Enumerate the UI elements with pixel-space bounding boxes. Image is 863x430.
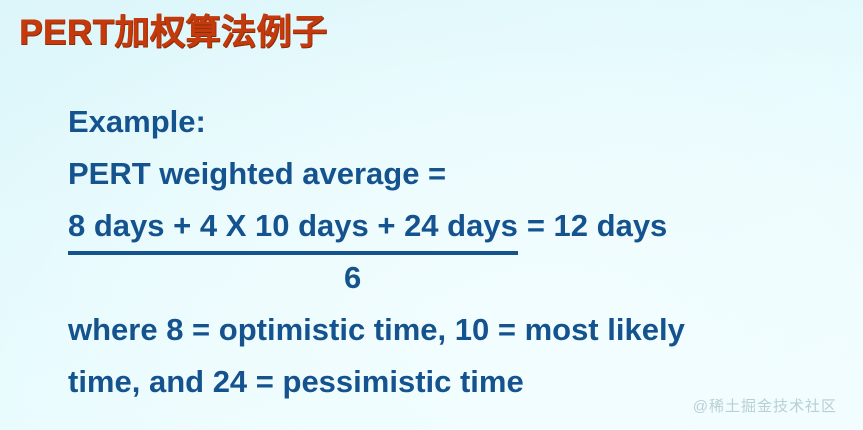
slide-body: Example: PERT weighted average = 8 days … [68, 96, 858, 408]
explanation-line-1: where 8 = optimistic time, 10 = most lik… [68, 304, 858, 356]
fraction-numerator: 8 days + 4 X 10 days + 24 days [68, 204, 518, 255]
fraction-denominator: 6 [68, 252, 858, 304]
page-title: PERT加权算法例子 [19, 12, 327, 55]
fraction-row: 8 days + 4 X 10 days + 24 days= 12 days [68, 200, 858, 252]
slide-canvas: PERT加权算法例子 Example: PERT weighted averag… [0, 0, 863, 430]
fraction-result: = 12 days [518, 204, 667, 248]
example-label: Example: [68, 96, 858, 148]
watermark: @稀土掘金技术社区 [693, 395, 837, 416]
formula-label: PERT weighted average = [68, 148, 858, 200]
